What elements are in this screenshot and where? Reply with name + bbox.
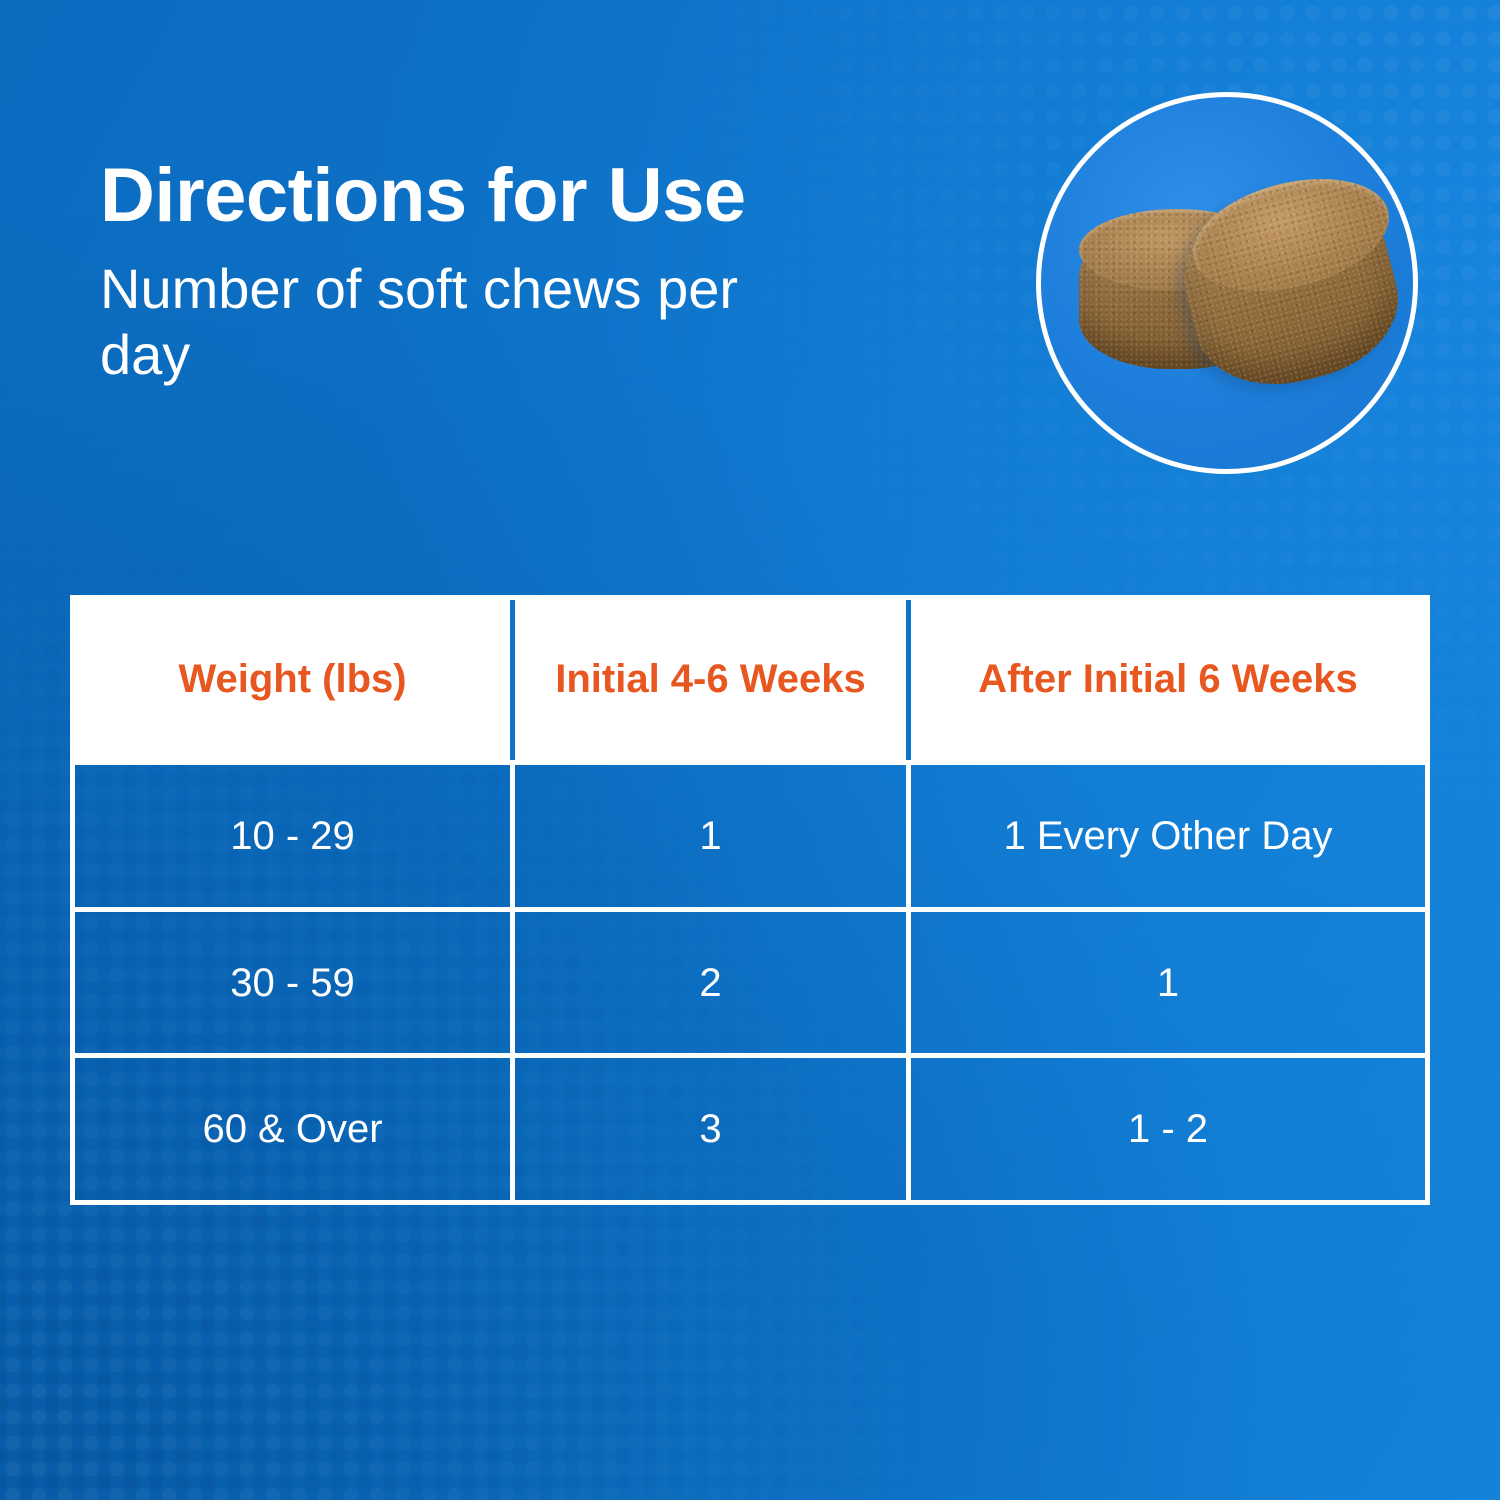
page-title: Directions for Use — [100, 158, 960, 234]
cell-after: 1 — [906, 912, 1425, 1054]
table-row: 30 - 59 2 1 — [75, 907, 1425, 1054]
table-header-row: Weight (lbs) Initial 4-6 Weeks After Ini… — [75, 600, 1425, 760]
column-header-initial-weeks: Initial 4-6 Weeks — [510, 600, 906, 760]
page-subtitle: Number of soft chews per day — [100, 256, 830, 387]
cell-after: 1 Every Other Day — [906, 765, 1425, 907]
cell-initial: 3 — [510, 1058, 906, 1200]
cell-weight: 60 & Over — [75, 1058, 510, 1200]
table-row: 60 & Over 3 1 - 2 — [75, 1053, 1425, 1200]
cell-weight: 10 - 29 — [75, 765, 510, 907]
cell-initial: 1 — [510, 765, 906, 907]
cell-weight: 30 - 59 — [75, 912, 510, 1054]
cell-after: 1 - 2 — [906, 1058, 1425, 1200]
column-header-weight: Weight (lbs) — [75, 600, 510, 760]
soft-chews-image — [1036, 92, 1418, 474]
column-header-after-initial-weeks: After Initial 6 Weeks — [906, 600, 1425, 760]
table-row: 10 - 29 1 1 Every Other Day — [75, 760, 1425, 907]
dosing-table: Weight (lbs) Initial 4-6 Weeks After Ini… — [70, 595, 1430, 1205]
cell-initial: 2 — [510, 912, 906, 1054]
directions-for-use-poster: Directions for Use Number of soft chews … — [0, 0, 1500, 1500]
heading-block: Directions for Use Number of soft chews … — [100, 158, 960, 387]
